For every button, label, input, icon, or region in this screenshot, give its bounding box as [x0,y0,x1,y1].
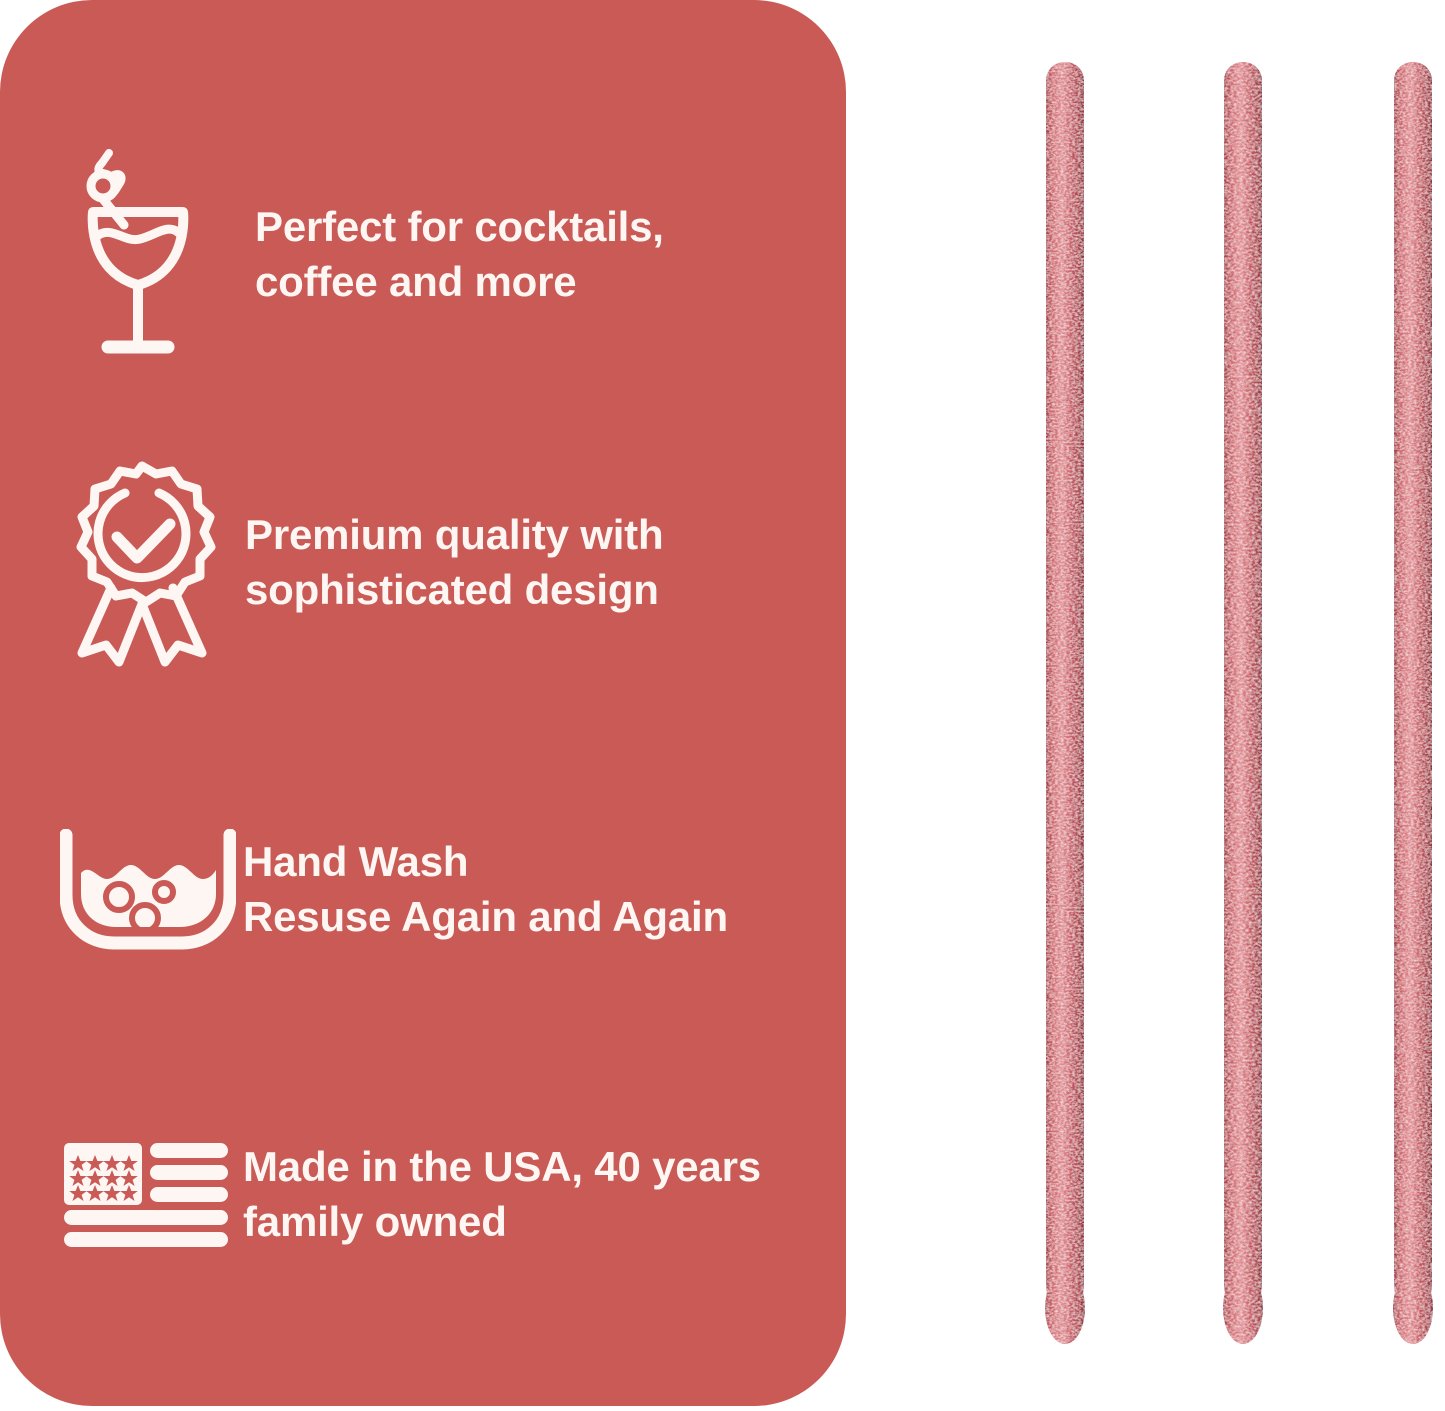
stir-stick-1 [1044,60,1086,1345]
hand-wash-basin-icon [60,829,240,951]
feature-row-usa: Made in the USA, 40 years family owned [60,1110,800,1280]
stir-stick-3 [1392,60,1434,1345]
feature-label-cocktails: Perfect for cocktails, coffee and more [255,200,800,309]
feature-label-premium: Premium quality with sophisticated desig… [245,508,800,617]
feature-row-handwash: Hand Wash Resuse Again and Again [60,805,800,975]
cocktail-glass-icon [60,139,252,371]
feature-row-premium: Premium quality with sophisticated desig… [60,448,800,678]
feature-card: Perfect for cocktails, coffee and more P… [0,0,846,1406]
feature-label-usa: Made in the USA, 40 years family owned [243,1140,800,1249]
feature-row-cocktails: Perfect for cocktails, coffee and more [60,140,800,370]
feature-label-handwash: Hand Wash Resuse Again and Again [243,835,800,944]
usa-flag-icon [60,1139,240,1251]
quality-badge-icon [60,457,242,669]
stir-stick-2 [1222,60,1264,1345]
